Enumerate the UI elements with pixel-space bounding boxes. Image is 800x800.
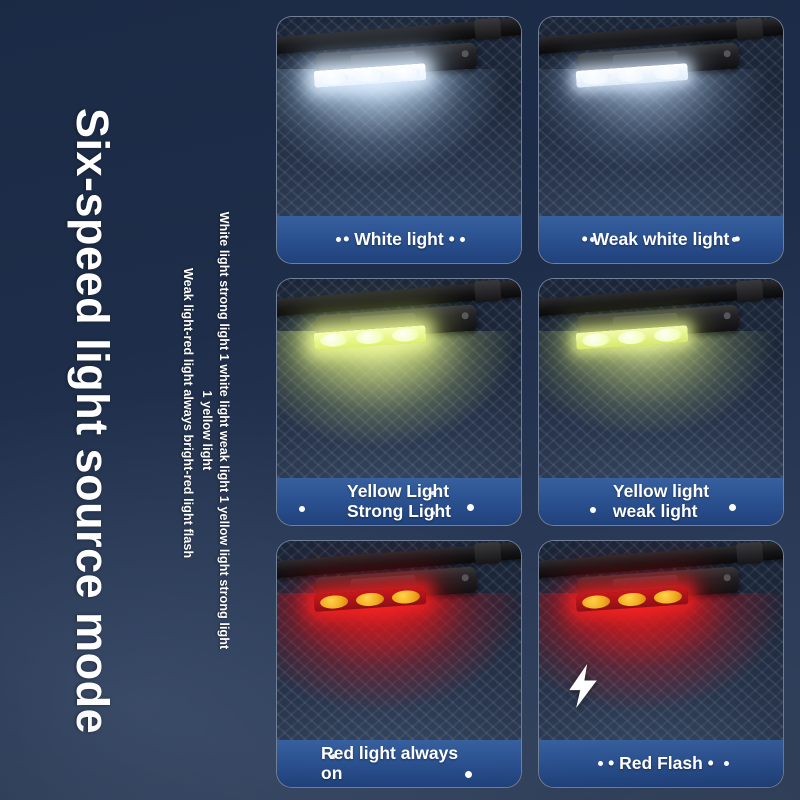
headlamp-photo <box>539 541 783 740</box>
headlamp-device <box>539 549 783 637</box>
label-decor-dot <box>336 237 341 242</box>
headlamp-photo <box>277 17 521 216</box>
led-emitter-dots <box>581 327 682 347</box>
light-mode-label-bar: • White light • <box>277 216 521 263</box>
page-title: Six-speed light source mode <box>66 108 118 734</box>
light-mode-label-line: Yellow Light <box>347 481 449 501</box>
led-emitter-dots <box>581 589 682 609</box>
led-emitter-dots <box>319 65 420 85</box>
label-decor-dot <box>460 237 465 242</box>
light-mode-card-weak-white-light[interactable]: • Weak white light • <box>538 16 784 264</box>
label-decor-dot <box>729 504 736 511</box>
light-mode-label-text: Yellow lightweak light <box>613 482 709 521</box>
headlamp-device <box>539 287 783 375</box>
label-decor-dot <box>590 507 596 513</box>
label-bullet-left: • <box>608 753 619 773</box>
light-mode-label-line: White light <box>354 229 443 249</box>
light-mode-card-grid: • White light • • Weak white light • <box>276 16 784 788</box>
lightning-bolt-icon <box>566 664 600 708</box>
mode-sequence-line-2: Weak light-red light always bright-red l… <box>179 268 196 558</box>
led-emitter-dots <box>581 65 682 85</box>
headlamp-device <box>277 549 521 637</box>
light-mode-label-text: Yellow LightStrong Light <box>347 482 451 521</box>
label-decor-dot <box>467 504 474 511</box>
headlamp-photo <box>277 541 521 740</box>
headlamp-device <box>277 287 521 375</box>
light-mode-label-bar: • Red Flash • <box>539 740 783 787</box>
label-decor-dot <box>598 761 603 766</box>
light-mode-label-text: Red light alwayson <box>287 744 511 783</box>
label-decor-dot <box>724 761 729 766</box>
light-mode-label-bar: Red light alwayson <box>277 740 521 787</box>
light-mode-label-line: Red Flash <box>619 753 703 773</box>
light-mode-card-red-light-always-on[interactable]: Red light alwayson <box>276 540 522 788</box>
light-mode-label-bar: Yellow LightStrong Light <box>277 478 521 525</box>
light-mode-label-line: Yellow light <box>613 481 709 501</box>
label-bullet-right: • <box>444 229 455 249</box>
light-mode-card-red-flash[interactable]: • Red Flash • <box>538 540 784 788</box>
label-bullet-right: • <box>729 229 740 249</box>
mode-sequence-line-1: White light strong light 1 white light w… <box>198 207 232 654</box>
label-bullet-left: • <box>582 229 593 249</box>
light-mode-label-bar: Yellow lightweak light <box>539 478 783 525</box>
label-decor-dot <box>299 506 305 512</box>
headlamp-photo <box>539 17 783 216</box>
light-mode-label-line: on <box>321 763 342 783</box>
light-mode-label-line: Weak white light <box>593 229 730 249</box>
headlamp-device <box>539 25 783 113</box>
product-feature-page: Six-speed light source mode White light … <box>0 0 800 800</box>
light-mode-label-text: • White light • <box>343 230 454 250</box>
light-mode-label-line: weak light <box>613 501 698 521</box>
light-mode-card-yellow-light-strong-light[interactable]: Yellow LightStrong Light <box>276 278 522 526</box>
led-emitter-dots <box>319 327 420 347</box>
light-mode-label-bar: • Weak white light • <box>539 216 783 263</box>
light-mode-label-line: Red light always <box>321 743 458 763</box>
light-mode-card-white-light[interactable]: • White light • <box>276 16 522 264</box>
headlamp-photo <box>277 279 521 478</box>
headlamp-photo <box>539 279 783 478</box>
light-mode-card-yellow-light-weak-light[interactable]: Yellow lightweak light <box>538 278 784 526</box>
light-mode-label-text: • Red Flash • <box>608 754 714 774</box>
light-mode-label-line: Strong Light <box>347 501 451 521</box>
headlamp-device <box>277 25 521 113</box>
light-mode-label-text: • Weak white light • <box>582 230 741 250</box>
label-bullet-left: • <box>343 229 354 249</box>
label-bullet-right: • <box>703 753 714 773</box>
led-emitter-dots <box>319 589 420 609</box>
